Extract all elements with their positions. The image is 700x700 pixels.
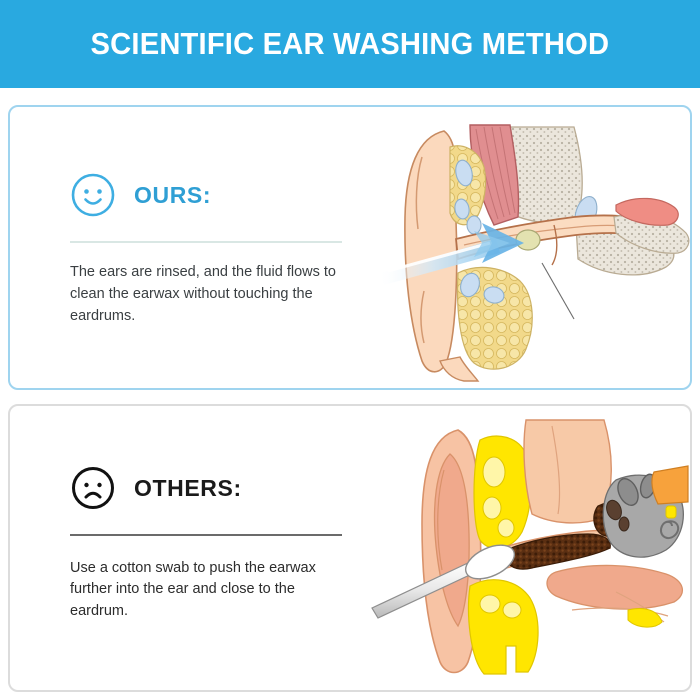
page-title: SCIENTIFIC EAR WASHING METHOD — [91, 26, 610, 62]
page-header: SCIENTIFIC EAR WASHING METHOD — [0, 0, 700, 88]
others-body-text: Use a cotton swab to push the earwax fur… — [70, 558, 336, 623]
card-others: OTHERS: Use a cotton swab to push the ea… — [8, 404, 692, 692]
ours-divider — [70, 241, 342, 243]
others-heading-label: OTHERS: — [134, 475, 242, 502]
card-ours: OURS: The ears are rinsed, and the fluid… — [8, 105, 692, 390]
others-text-column: OTHERS: Use a cotton swab to push the ea… — [70, 462, 355, 623]
ours-heading-row: OURS: — [70, 169, 355, 221]
ours-heading-label: OURS: — [134, 182, 211, 209]
others-heading-row: OTHERS: — [70, 462, 355, 514]
ear-anatomy-cotton-swab-diagram — [366, 414, 692, 682]
ours-text-column: OURS: The ears are rinsed, and the fluid… — [70, 169, 355, 327]
sad-face-icon — [70, 465, 116, 511]
ear-anatomy-irrigation-diagram — [378, 113, 692, 385]
others-divider — [70, 534, 342, 536]
smiley-face-icon — [70, 172, 116, 218]
ours-body-text: The ears are rinsed, and the fluid flows… — [70, 262, 336, 327]
